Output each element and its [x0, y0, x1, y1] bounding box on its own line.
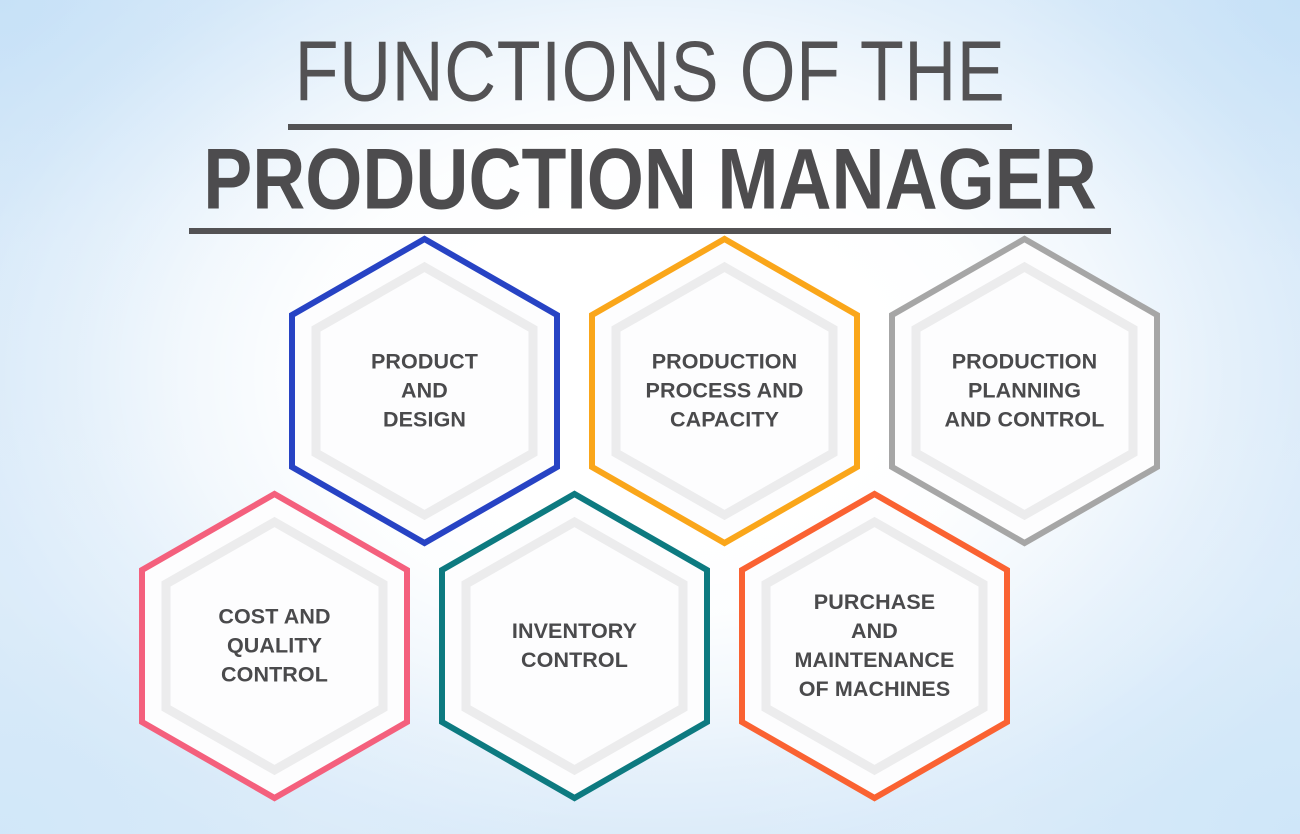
title-divider-lower: [189, 228, 1111, 234]
title-line-2: PRODUCTION MANAGER: [0, 134, 1300, 225]
hex-label-inventory-control: INVENTORY CONTROL: [459, 617, 691, 675]
title-divider-upper: [288, 124, 1012, 130]
infographic-canvas: FUNCTIONS OF THE PRODUCTION MANAGER PROD…: [0, 0, 1300, 834]
page-title: FUNCTIONS OF THE PRODUCTION MANAGER: [0, 26, 1300, 234]
title-line-1: FUNCTIONS OF THE: [0, 26, 1300, 118]
hex-label-product-and-design: PRODUCT AND DESIGN: [317, 348, 532, 435]
hex-label-cost-and-quality-control: COST AND QUALITY CONTROL: [167, 603, 382, 690]
hex-label-production-planning-and-control: PRODUCTION PLANNING AND CONTROL: [909, 348, 1141, 435]
hex-label-production-process-and-capacity: PRODUCTION PROCESS AND CAPACITY: [609, 348, 841, 435]
hex-card-inventory-control[interactable]: INVENTORY CONTROL: [432, 486, 717, 806]
hex-label-purchase-and-maintenance-of-machines: PURCHASE AND MAINTENANCE OF MACHINES: [759, 588, 991, 704]
hex-card-purchase-and-maintenance-of-machines[interactable]: PURCHASE AND MAINTENANCE OF MACHINES: [732, 486, 1017, 806]
hex-card-cost-and-quality-control[interactable]: COST AND QUALITY CONTROL: [132, 486, 417, 806]
